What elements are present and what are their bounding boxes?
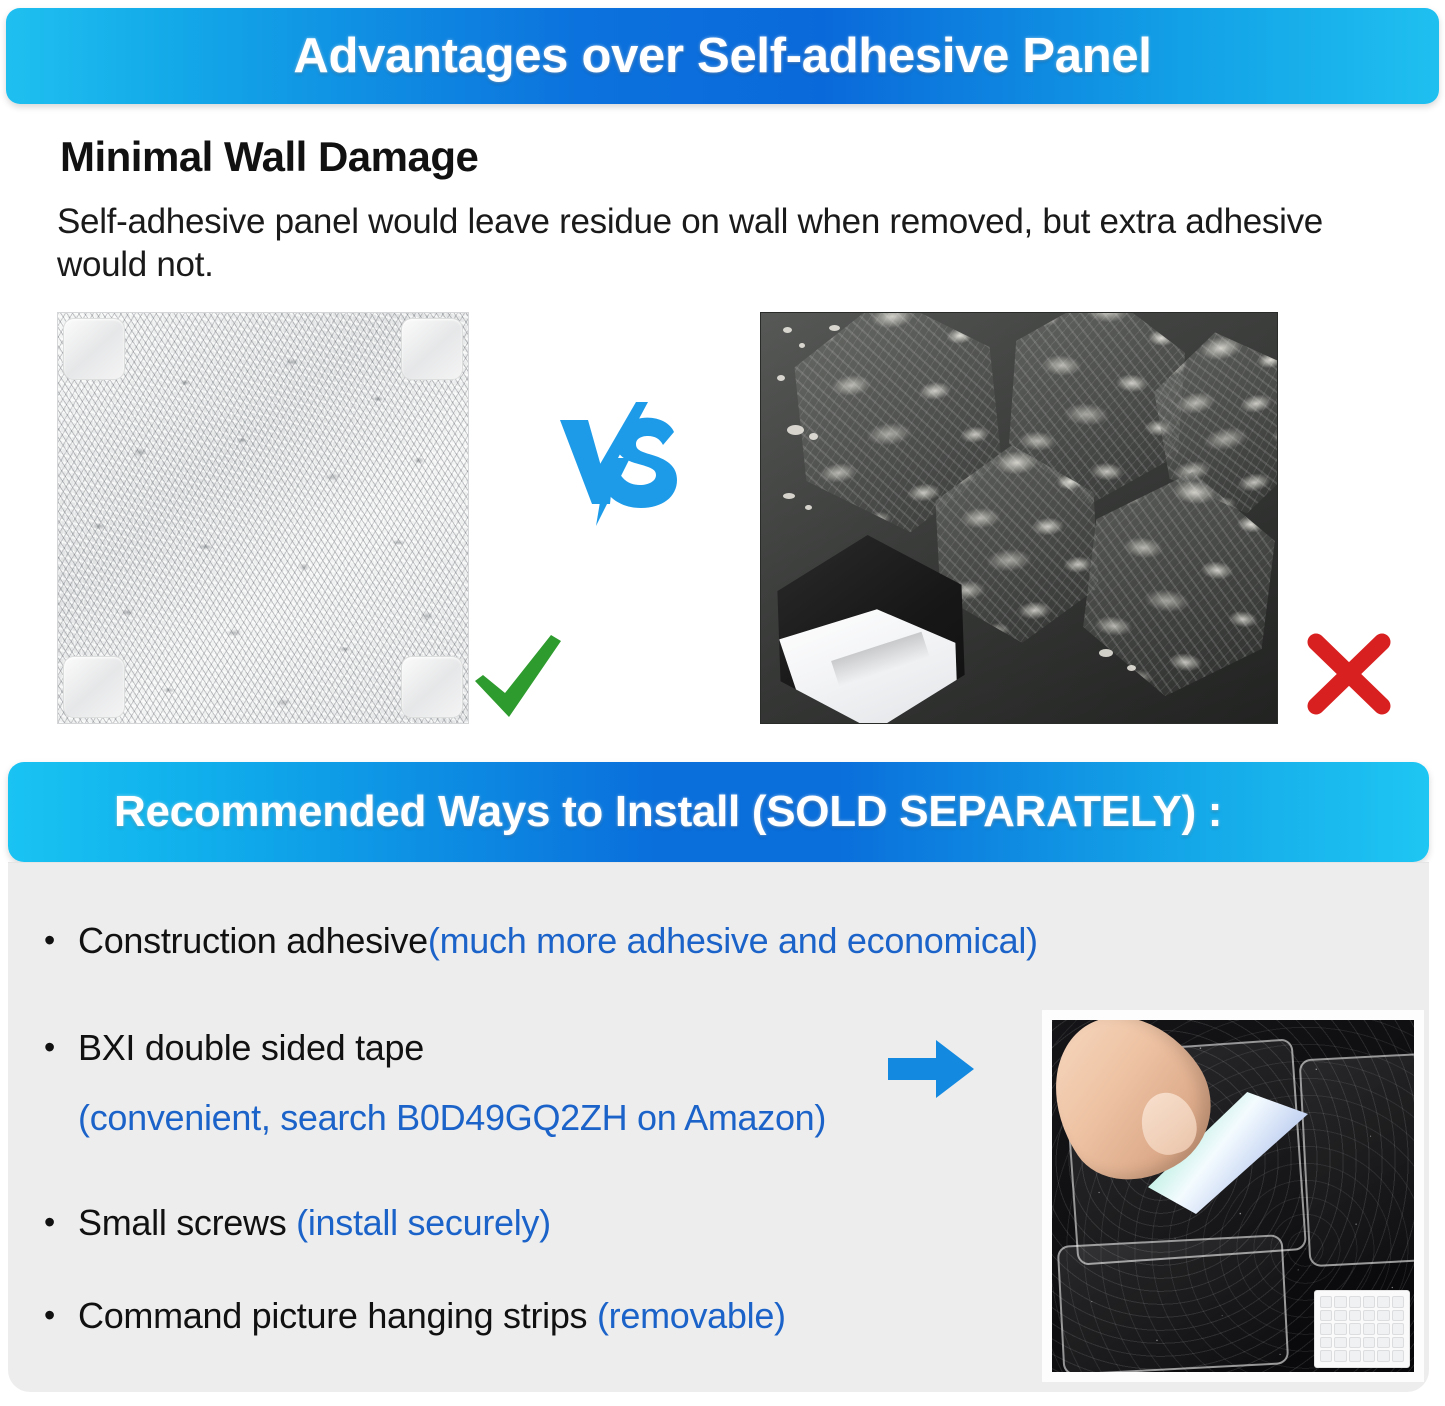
tape-grid-cell [1334,1337,1346,1349]
tape-grid-cell [1349,1350,1361,1362]
corner-adhesive-tab [401,318,463,380]
list-item-primary: Command picture hanging strips [78,1295,597,1336]
tape-grid-cell [1320,1310,1332,1322]
list-item[interactable]: • Command picture hanging strips (remova… [44,1295,786,1337]
tape-grid-cell [1392,1337,1404,1349]
tape-grid-cell [1334,1350,1346,1362]
tape-grid-cell [1392,1350,1404,1362]
list-item-primary: BXI double sided tape [78,1027,424,1069]
tape-grid-cell [1349,1310,1361,1322]
list-item[interactable]: • Construction adhesive(much more adhesi… [44,920,1038,962]
arrow-right-icon [888,1038,974,1100]
tape-grid-cell [1392,1310,1404,1322]
photo-wall-damage [760,312,1278,724]
tape-grid-cell [1363,1323,1375,1335]
photo-double-sided-tape [1042,1010,1424,1382]
corner-adhesive-tab [401,656,463,718]
list-item-note: (convenient, search B0D49GQ2ZH on Amazon… [78,1097,826,1139]
green-check-icon [469,629,565,721]
tape-grid-cell [1349,1337,1361,1349]
vs-icon [552,402,692,526]
list-item-primary: Construction adhesive [78,920,428,961]
tape-grid-cell [1363,1350,1375,1362]
product-infographic: Advantages over Self-adhesive Panel Mini… [0,0,1445,1406]
tape-grid-cell [1392,1323,1404,1335]
paint-fleck [1127,665,1136,671]
tape-grid-cell [1320,1350,1332,1362]
tape-grid-cell [1320,1296,1332,1308]
paint-fleck [777,375,785,381]
bullet-dot-icon: • [44,920,78,960]
list-item-text: Command picture hanging strips (removabl… [78,1295,786,1337]
tape-grid-cell [1363,1310,1375,1322]
banner-top-text: Advantages over Self-adhesive Panel [293,28,1151,84]
corner-adhesive-tab [63,318,125,380]
tape-grid-cell [1349,1296,1361,1308]
tape-grid-cell [1377,1310,1389,1322]
list-item-note: (much more adhesive and economical) [428,920,1038,961]
tape-photo-inner [1052,1020,1414,1372]
tape-grid-cell [1334,1296,1346,1308]
tape-grid-cell [1392,1296,1404,1308]
tape-grid-cell [1349,1323,1361,1335]
clear-tape-square [1299,1053,1414,1267]
paint-fleck [809,433,818,440]
paint-fleck [829,325,840,331]
list-item-note: (install securely) [296,1202,551,1243]
clear-tape-square [1057,1234,1289,1372]
tape-grid-cell [1377,1296,1389,1308]
paint-fleck [787,425,804,435]
list-item-primary: Small screws [78,1202,296,1243]
banner-recommended-install-title: Recommended Ways to Install (SOLD SEPARA… [8,762,1429,862]
list-item[interactable]: • BXI double sided tape [44,1027,424,1069]
bullet-dot-icon: • [44,1295,78,1335]
paragraph-residue-explanation: Self-adhesive panel would leave residue … [57,201,1387,286]
banner-bottom-text: Recommended Ways to Install (SOLD SEPARA… [114,787,1222,837]
tape-grid-cell [1334,1323,1346,1335]
paint-fleck [805,505,812,510]
paint-fleck [783,493,795,499]
tape-grid-cell [1320,1337,1332,1349]
list-item-text: Small screws (install securely) [78,1202,551,1244]
paint-fleck [799,343,805,348]
list-item-text: Construction adhesive(much more adhesive… [78,920,1038,962]
bullet-dot-icon: • [44,1027,78,1067]
tape-grid-cell [1363,1337,1375,1349]
heading-minimal-wall-damage: Minimal Wall Damage [60,133,478,181]
paint-fleck [1099,649,1113,657]
comparison-row [0,308,1445,733]
tape-grid-cell [1377,1337,1389,1349]
tape-sheet-inset [1314,1290,1410,1368]
white-adhesive-liner [778,607,959,724]
red-cross-icon [1303,630,1395,718]
paint-fleck [783,327,792,333]
bullet-dot-icon: • [44,1202,78,1242]
liner-fold-shadow [831,632,930,687]
list-item[interactable]: • Small screws (install securely) [44,1202,551,1244]
list-item-note: (removable) [597,1295,786,1336]
fingernail [1134,1086,1203,1160]
photo-felt-panel [57,312,469,724]
banner-advantages-title: Advantages over Self-adhesive Panel [6,8,1439,104]
tape-grid-cell [1377,1323,1389,1335]
tape-grid-cell [1320,1323,1332,1335]
tape-grid-cell [1334,1310,1346,1322]
tape-grid-cell [1377,1350,1389,1362]
corner-adhesive-tab [63,656,125,718]
tape-grid-cell [1363,1296,1375,1308]
